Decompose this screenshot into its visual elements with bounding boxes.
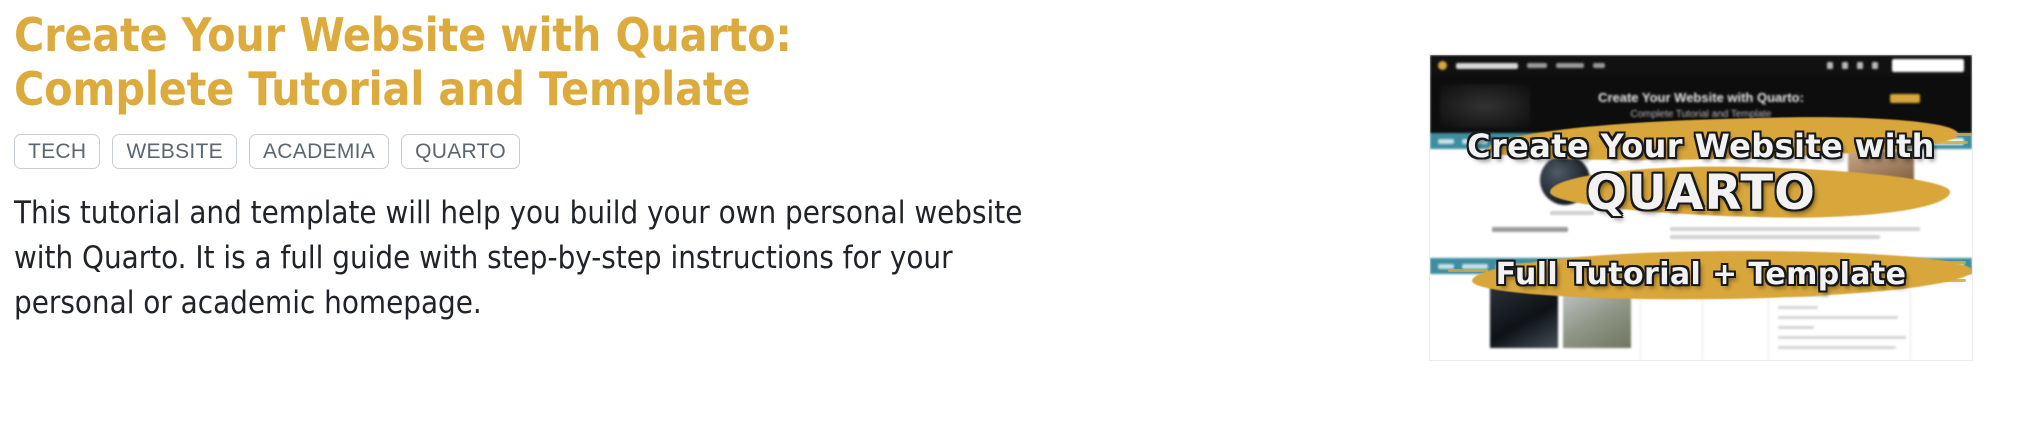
- body-text-line: [1670, 227, 1920, 231]
- hero-glow: [1440, 84, 1530, 128]
- nav-link-cv: [1593, 63, 1605, 68]
- post-text-column: Create Your Website with Quarto: Complet…: [0, 0, 1400, 326]
- body-text-line: [1670, 235, 1880, 239]
- search-input: [1892, 59, 1964, 72]
- teal-crumb: [1462, 139, 1488, 144]
- brush-fray: [1930, 133, 1972, 136]
- post-preview-card: Create Your Website with Quarto: Complet…: [0, 0, 2018, 422]
- rss-icon: [1872, 62, 1878, 69]
- page-title[interactable]: Create Your Website with Quarto: Complet…: [14, 8, 1024, 116]
- tag-academia[interactable]: ACADEMIA: [249, 134, 389, 169]
- github-icon: [1842, 62, 1848, 69]
- tag-tech[interactable]: TECH: [14, 134, 100, 169]
- hero-title: Create Your Website with Quarto:: [1598, 90, 1804, 105]
- brush-fray: [1934, 141, 1968, 144]
- twitter-icon: [1827, 62, 1833, 69]
- site-brand-name: [1456, 63, 1518, 69]
- post-thumbnail[interactable]: Create Your Website with Quarto: Complet…: [1430, 55, 1972, 360]
- brush-fray: [1900, 261, 1966, 264]
- nav-link-blog: [1527, 63, 1547, 68]
- sidebar-text-line: [1778, 316, 1898, 319]
- brush-fray: [1906, 279, 1966, 282]
- linkedin-icon: [1857, 62, 1863, 69]
- sidebar-text-line: [1778, 346, 1896, 349]
- site-logo-icon: [1438, 61, 1447, 70]
- inner-site-navbar: [1430, 55, 1972, 76]
- teal-crumb: [1462, 264, 1488, 269]
- post-description: This tutorial and template will help you…: [14, 191, 1074, 326]
- sidebar-text-line: [1778, 336, 1906, 339]
- column-divider: [1910, 278, 1911, 360]
- teal-crumb: [1438, 264, 1454, 269]
- sidebar-text-line: [1778, 326, 1814, 329]
- hero-badge: [1890, 94, 1920, 103]
- welcome-heading: [1492, 227, 1568, 232]
- nav-link-projects: [1556, 63, 1584, 68]
- sidebar-text-line: [1778, 306, 1818, 309]
- photo-caption: [1550, 211, 1594, 215]
- tag-quarto[interactable]: QUARTO: [401, 134, 520, 169]
- teal-crumb: [1438, 139, 1454, 144]
- tag-website[interactable]: WEBSITE: [112, 134, 237, 169]
- brush-fray: [1448, 269, 1488, 272]
- tag-list: TECH WEBSITE ACADEMIA QUARTO: [14, 134, 1400, 169]
